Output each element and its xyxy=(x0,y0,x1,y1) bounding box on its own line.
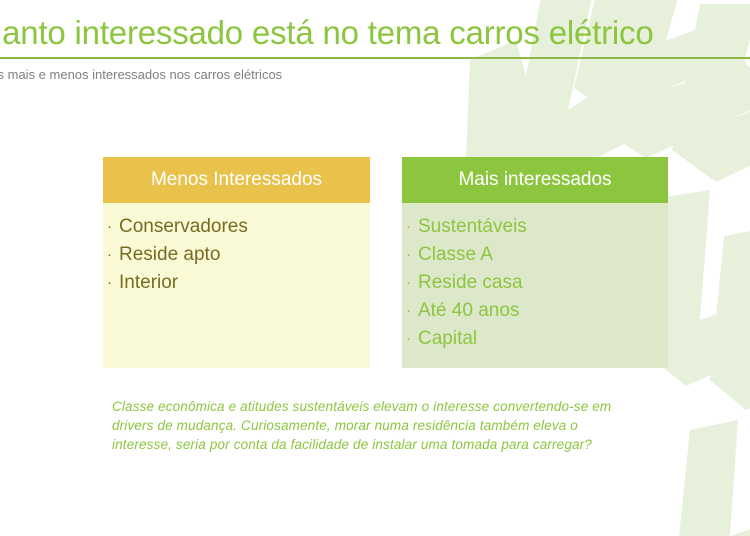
list-item-label: Classe A xyxy=(418,244,493,265)
slide-canvas: uanto interessado está no tema carros el… xyxy=(0,0,750,536)
panel-menos-header: Menos Interessados xyxy=(103,157,370,203)
bullet-icon: · xyxy=(107,269,112,297)
panel-menos-body: · Conservadores · Reside apto · Interior xyxy=(103,203,370,368)
panel-mais-body: · Sustentáveis · Classe A · Reside casa … xyxy=(402,203,668,368)
list-item: · Interior xyxy=(103,269,370,297)
bullet-icon: · xyxy=(406,297,411,325)
bullet-icon: · xyxy=(406,269,411,297)
panel-menos-interessados: Menos Interessados · Conservadores · Res… xyxy=(103,157,370,368)
panel-menos-list: · Conservadores · Reside apto · Interior xyxy=(103,213,370,297)
list-item: · Conservadores xyxy=(103,213,370,241)
list-item: · Até 40 anos xyxy=(402,297,668,325)
panel-mais-list: · Sustentáveis · Classe A · Reside casa … xyxy=(402,213,668,353)
commentary-text: Classe econômica e atitudes sustentáveis… xyxy=(112,397,622,454)
bullet-icon: · xyxy=(406,241,411,269)
list-item-label: Capital xyxy=(418,328,477,349)
list-item-label: Conservadores xyxy=(119,216,248,237)
list-item: · Reside apto xyxy=(103,241,370,269)
bullet-icon: · xyxy=(107,241,112,269)
panel-mais-interessados: Mais interessados · Sustentáveis · Class… xyxy=(402,157,668,368)
bullet-icon: · xyxy=(406,213,411,241)
list-item-label: Reside casa xyxy=(418,272,523,293)
list-item: · Classe A xyxy=(402,241,668,269)
list-item: · Capital xyxy=(402,325,668,353)
list-item-label: Interior xyxy=(119,272,178,293)
list-item-label: Até 40 anos xyxy=(418,300,519,321)
list-item-label: Reside apto xyxy=(119,244,220,265)
list-item-label: Sustentáveis xyxy=(418,216,527,237)
list-item: · Sustentáveis xyxy=(402,213,668,241)
list-item: · Reside casa xyxy=(402,269,668,297)
bullet-icon: · xyxy=(107,213,112,241)
page-title: uanto interessado está no tema carros el… xyxy=(0,13,750,53)
page-subtitle: licos mais e menos interessados nos carr… xyxy=(0,66,750,84)
title-divider xyxy=(0,57,750,59)
panel-mais-header: Mais interessados xyxy=(402,157,668,203)
bullet-icon: · xyxy=(406,325,411,353)
